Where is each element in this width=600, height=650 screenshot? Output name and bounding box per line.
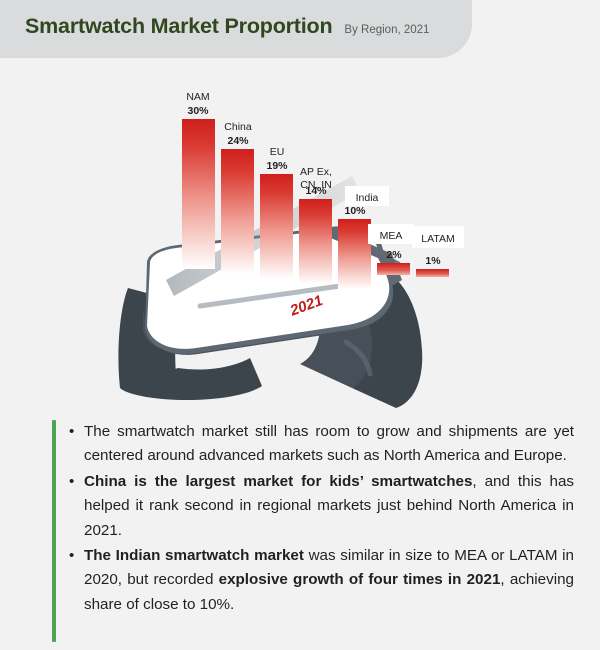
insight-emphasis: explosive growth of four times in 2021 xyxy=(219,571,501,588)
value-label-china: 24% xyxy=(227,135,249,147)
insight-text: The smartwatch market still has room to … xyxy=(84,423,574,464)
cat-label-india: India xyxy=(356,192,379,204)
insight-bullet-1: The smartwatch market still has room to … xyxy=(84,420,574,469)
insights-list: The smartwatch market still has room to … xyxy=(56,420,588,642)
bar-china xyxy=(221,149,254,274)
cat-label-mea: MEA xyxy=(380,230,403,242)
insight-emphasis: The Indian smartwatch market xyxy=(84,547,304,564)
bars-group xyxy=(182,119,449,289)
cat-label-nam: NAM xyxy=(186,91,209,103)
cat-label-ap-ex-cn-in: AP Ex, xyxy=(300,166,332,178)
value-label-eu: 19% xyxy=(266,160,288,172)
page-title: Smartwatch Market Proportion xyxy=(25,14,332,39)
bar-nam xyxy=(182,119,215,269)
smartwatch-bar-chart-figure: NAM China EU AP Ex, CN, IN India MEA LAT… xyxy=(0,58,600,418)
value-label-mea: 2% xyxy=(386,249,402,261)
value-label-nam: 30% xyxy=(187,105,209,117)
value-label-ap-ex-cn-in: 14% xyxy=(305,185,327,197)
cat-label-china: China xyxy=(224,121,252,133)
insight-bullet-2: China is the largest market for kids’ sm… xyxy=(84,470,574,543)
page-subtitle: By Region, 2021 xyxy=(344,24,429,36)
bar-india xyxy=(338,219,371,289)
insights-panel: The smartwatch market still has room to … xyxy=(52,420,588,642)
bar-ap-ex-cn-in xyxy=(299,199,332,284)
bar-eu xyxy=(260,174,293,279)
header-inner: Smartwatch Market Proportion By Region, … xyxy=(25,14,429,39)
bar-mea xyxy=(377,263,410,275)
chart-svg: NAM China EU AP Ex, CN, IN India MEA LAT… xyxy=(0,58,600,418)
insight-bullet-3: The Indian smartwatch market was similar… xyxy=(84,544,574,617)
value-label-latam: 1% xyxy=(425,255,441,267)
cat-label-eu: EU xyxy=(270,146,285,158)
cat-label-latam: LATAM xyxy=(421,233,454,245)
value-label-india: 10% xyxy=(344,205,366,217)
insight-emphasis: China is the largest market for kids’ sm… xyxy=(84,473,472,490)
bar-latam xyxy=(416,269,449,277)
header-band: Smartwatch Market Proportion By Region, … xyxy=(0,0,472,58)
